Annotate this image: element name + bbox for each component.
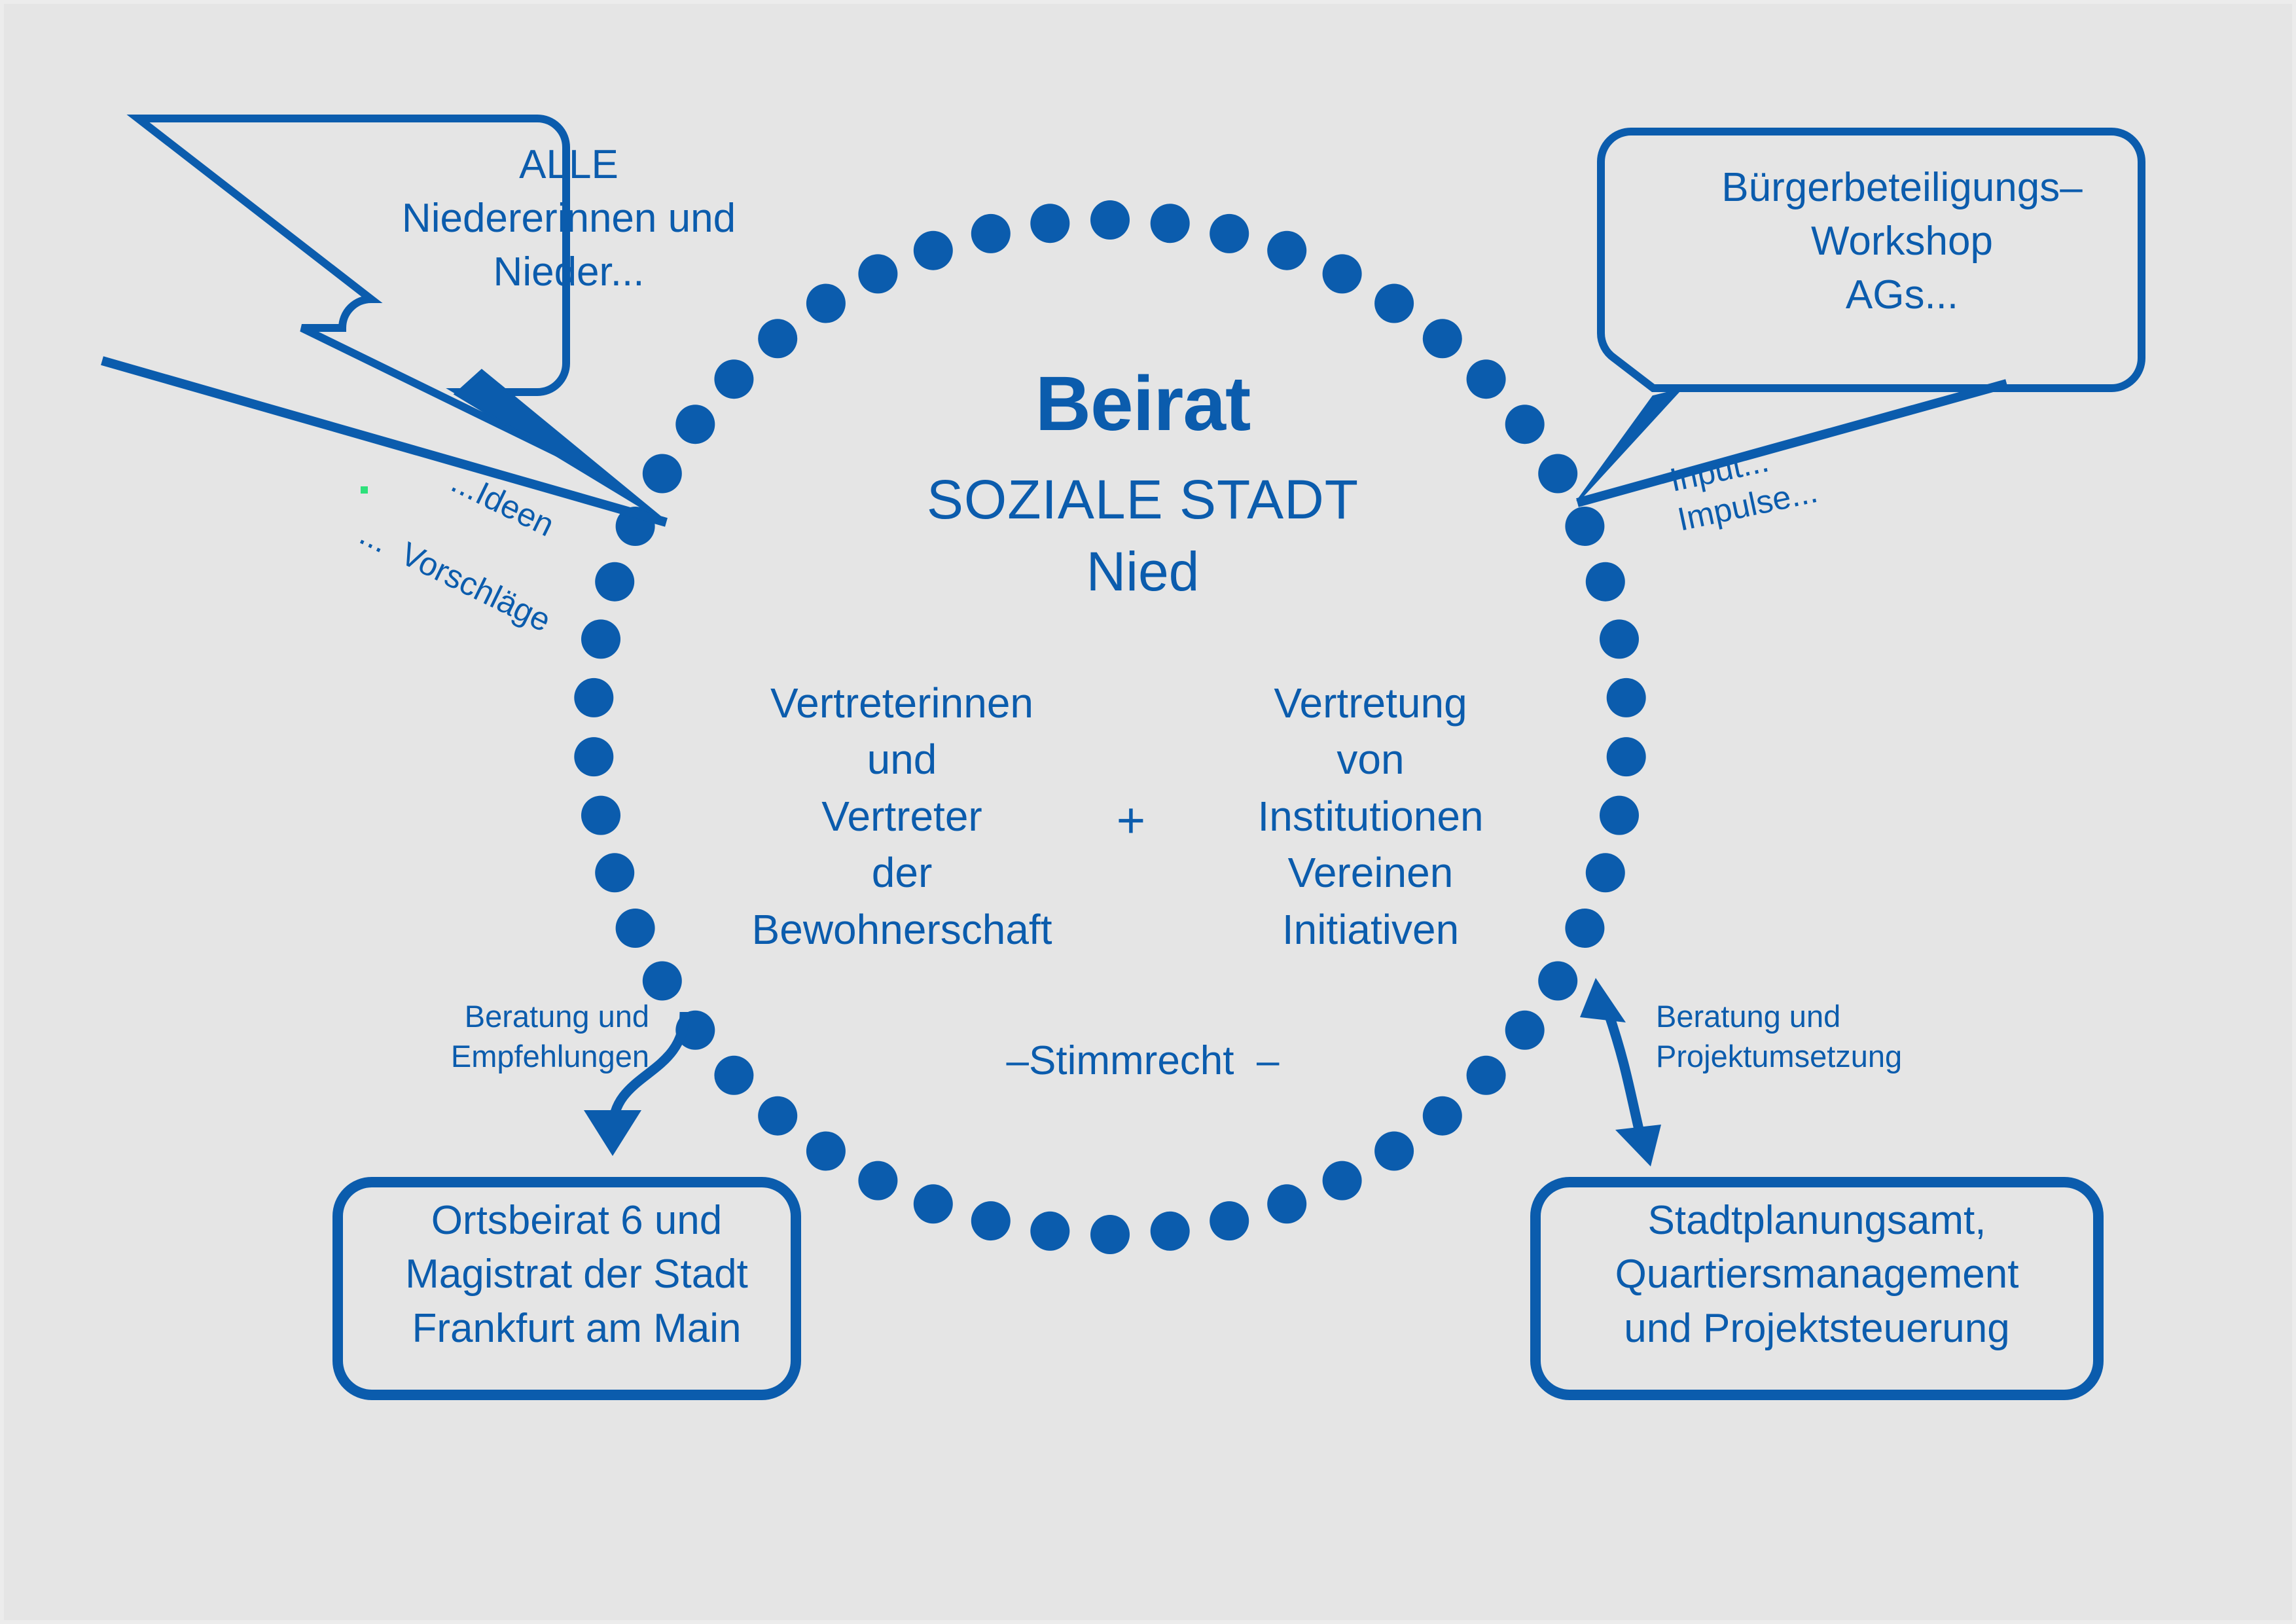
bubble-top-right-label: Bürgerbeteiligungs– Workshop AGs...: [1679, 161, 2125, 321]
ring-dot: [581, 796, 620, 835]
ring-dot: [1323, 1161, 1362, 1200]
ring-dot: [1030, 1212, 1069, 1251]
ring-dot: [1151, 204, 1190, 243]
ring-dot: [914, 231, 953, 270]
ring-dot: [616, 909, 655, 948]
ring-dot: [1423, 319, 1462, 358]
ring-dot: [643, 454, 682, 494]
ring-dot: [595, 853, 634, 892]
subtitle-line-1: SOZIALE STADT: [927, 469, 1359, 530]
ring-dot: [574, 737, 613, 776]
ring-dot: [595, 562, 634, 602]
ring-dot: [1586, 562, 1625, 602]
arrow-label-beratung-projektumsetzung: Beratung und Projektumsetzung: [1656, 996, 1996, 1076]
ring-dot: [758, 319, 797, 358]
ring-dot: [1538, 454, 1577, 494]
dotted-circle-ring: [574, 200, 1645, 1254]
ring-dot: [1090, 200, 1130, 240]
ring-dot: [1586, 853, 1625, 892]
ring-dot: [1423, 1096, 1462, 1136]
arrow-beratung-projektumsetzung: [1580, 978, 1661, 1166]
ring-dot: [1565, 909, 1604, 948]
ring-dot: [714, 1056, 753, 1095]
ring-dot: [971, 1201, 1011, 1240]
column-right-members: Vertretung von Institutionen Vereinen In…: [1257, 675, 1483, 958]
ring-dot: [1600, 796, 1639, 835]
ring-dot: [1090, 1215, 1130, 1254]
diagram-canvas: Beirat SOZIALE STADT Nied Vertreterinnen…: [0, 0, 2296, 1624]
ring-dot: [1467, 359, 1506, 399]
arrow-label-beratung-empfehlungen: Beratung und Empfehlungen: [387, 996, 649, 1076]
ring-dot: [1505, 405, 1545, 444]
ring-dot: [643, 962, 682, 1001]
ring-dot: [914, 1184, 953, 1223]
ring-dot: [1607, 737, 1646, 776]
stimmrecht-note: –Stimmrecht –: [1007, 1038, 1280, 1083]
ring-dot: [858, 1161, 897, 1200]
ring-dot: [714, 359, 753, 399]
ring-dot: [1565, 507, 1604, 546]
box-bottom-right-label: Stadtplanungsamt, Quartiersmanagement un…: [1549, 1194, 2085, 1356]
ring-dot: [1374, 284, 1414, 323]
green-artifact-dot: [361, 486, 368, 494]
ring-dot: [806, 1132, 846, 1171]
plus-symbol: +: [1117, 793, 1145, 848]
ring-dot: [1323, 254, 1362, 293]
ring-dot: [1467, 1056, 1506, 1095]
ring-dot: [806, 284, 846, 323]
ring-dot: [1267, 231, 1306, 270]
ring-dot: [858, 254, 897, 293]
ring-dot: [1210, 1201, 1249, 1240]
ring-dot: [1030, 204, 1069, 243]
column-left-members: Vertreterinnen und Vertreter der Bewohne…: [752, 675, 1052, 958]
ring-dot: [1607, 678, 1646, 717]
ring-dot: [1267, 1184, 1306, 1223]
bubble-top-left-pointer-line: [102, 361, 666, 522]
ring-dot: [1210, 214, 1249, 253]
ring-dot: [1600, 619, 1639, 659]
ring-dot: [1151, 1212, 1190, 1251]
ring-dot: [581, 619, 620, 659]
ring-dot: [1538, 962, 1577, 1001]
ring-dot: [1374, 1132, 1414, 1171]
box-bottom-left-label: Ortsbeirat 6 und Magistrat der Stadt Fra…: [351, 1194, 802, 1356]
bubble-top-left-label: ALLE Niedererinnen und Nieder...: [333, 138, 804, 298]
ring-dot: [1505, 1011, 1545, 1050]
page-title: Beirat: [1035, 361, 1250, 447]
ring-dot: [758, 1096, 797, 1136]
ring-dot: [971, 214, 1011, 253]
subtitle-line-2: Nied: [1086, 541, 1200, 602]
ring-dot: [675, 405, 715, 444]
ring-dot: [574, 678, 613, 717]
